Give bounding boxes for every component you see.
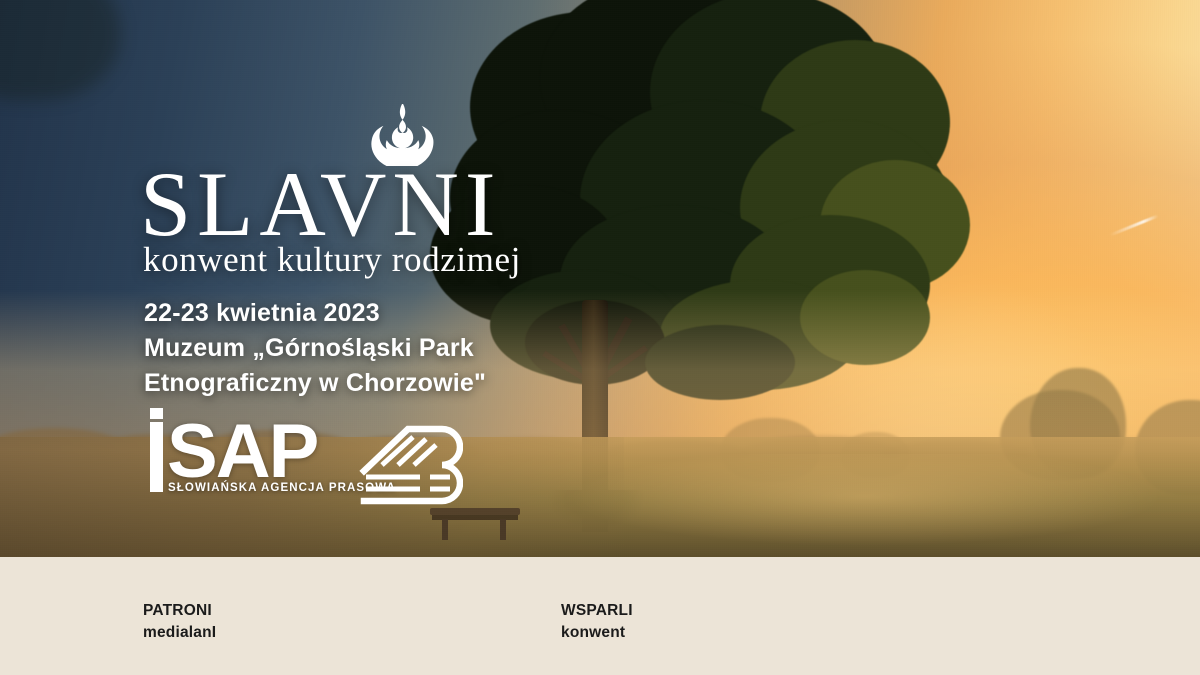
patroni-medialni-label: PATRONI medialanI xyxy=(143,600,216,644)
sap-i-dot-icon xyxy=(150,408,163,419)
wsparli-label-line2: konwent xyxy=(561,622,633,644)
event-details: 22-23 kwietnia 2023 Muzeum „Górnośląski … xyxy=(144,298,486,403)
event-date: 22-23 kwietnia 2023 xyxy=(144,298,486,329)
sponsor-footer: PATRONI medialanI WSPARLI konwent Polski… xyxy=(0,557,1200,675)
event-poster: SLAVNI konwent kultury rodzimej 22-23 kw… xyxy=(0,0,1200,675)
patroni-label-line2: medialanI xyxy=(143,622,216,644)
sap-wordmark: SAP xyxy=(167,414,317,490)
wsparli-label-line1: WSPARLI xyxy=(561,600,633,622)
headline-block: SLAVNI konwent kultury rodzimej 22-23 kw… xyxy=(0,0,1200,557)
event-venue-line2: Etnograficzny w Chorzowie" xyxy=(144,368,486,399)
page-title: SLAVNI xyxy=(140,158,501,250)
page-subtitle: konwent kultury rodzimej xyxy=(143,240,521,280)
wsparli-konwent-label: WSPARLI konwent xyxy=(561,600,633,644)
patroni-label-line1: PATRONI xyxy=(143,600,216,622)
sap-logo[interactable]: SAP SŁOWIAŃSKA AGENCJA PRASOWA xyxy=(150,420,325,510)
house-roof-icon xyxy=(358,425,463,505)
event-venue-line1: Muzeum „Górnośląski Park xyxy=(144,333,486,364)
sap-i-stem-icon xyxy=(150,422,163,492)
